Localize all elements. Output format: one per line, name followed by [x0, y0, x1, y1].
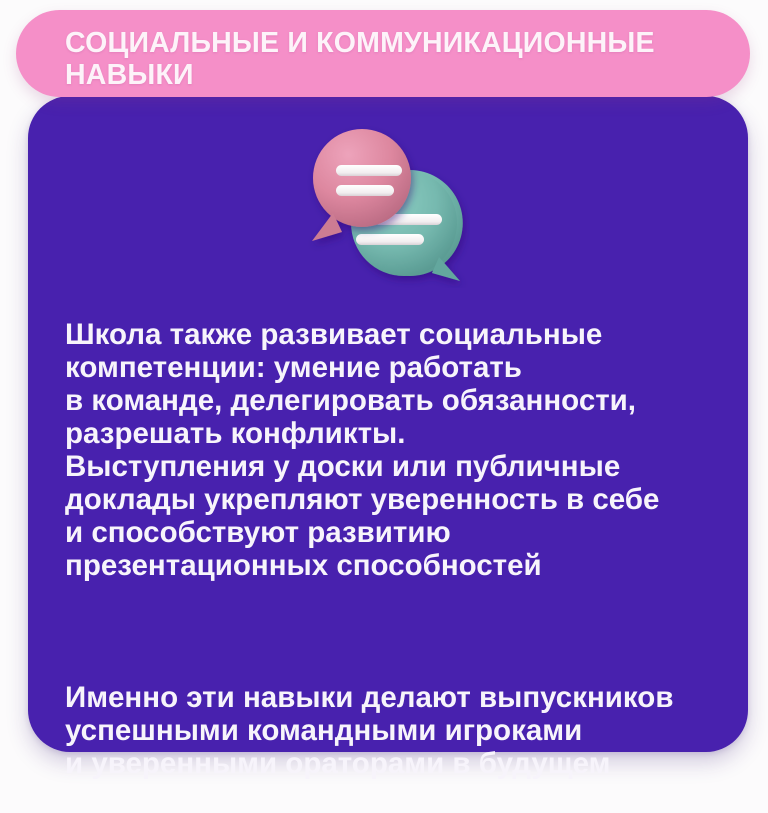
chat-bubbles-svg	[300, 118, 470, 288]
page-title: СОЦИАЛЬНЫЕ И КОММУНИКАЦИОННЫЕ НАВЫКИ	[65, 27, 735, 91]
header-banner: СОЦИАЛЬНЫЕ И КОММУНИКАЦИОННЫЕ НАВЫКИ	[16, 10, 750, 97]
pink-bubble-line-2	[336, 185, 394, 196]
teal-bubble-line-2	[356, 234, 424, 245]
pink-bubble-line-1	[336, 165, 402, 176]
body-paragraph-1: Школа также развивает социальные компете…	[65, 318, 725, 582]
body-text: Школа также развивает социальные компете…	[65, 285, 725, 813]
paragraph-spacer	[65, 615, 725, 648]
chat-bubbles-icon	[300, 118, 470, 288]
body-paragraph-2: Именно эти навыки делают выпускников усп…	[65, 681, 725, 780]
